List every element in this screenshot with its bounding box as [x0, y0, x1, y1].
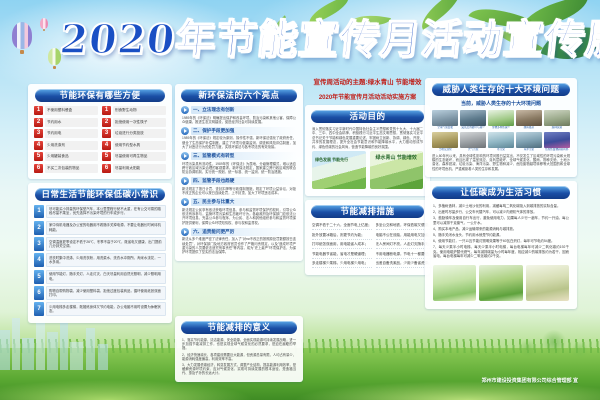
tip-number: 1: [34, 205, 44, 219]
problem-label: 生物多样性减少: [488, 126, 514, 130]
tip-item: 3空调温度夏季设定不低于26℃、冬季不高于20℃，既省电又健康，出门提前几分钟关…: [34, 237, 166, 251]
measures-two-column-list: 空调不低于二十六，全面节电上亿度； 拒外放置冰箱后，则更节约为能； 打印纸张双面…: [309, 222, 426, 271]
measure-item: 打印纸张双面用，用电能省人成本；: [312, 242, 372, 249]
chevron-right-icon: [181, 152, 189, 160]
subsection-heading-row: 一、立法理念有创新: [181, 106, 297, 114]
measure-item: 多坐公交和地铁，环保低碳又便捷；: [376, 223, 432, 230]
tip-text: 尽可能买小排量的环保型汽车，本公里里程行驶不太重，在有公交可乘的路段尽量不乘坐，…: [46, 205, 166, 219]
habit-item: 2、出差时尽量步行、公交车代替汽车，可以减少内燃机气体的排放。: [433, 210, 569, 215]
poster-canvas: 2020年节能宣传月活动宣传展板 节能环保有哪些方便 1不使用塑料餐盒 2节约用…: [0, 0, 600, 400]
poster-title: 2020年节能宣传月活动宣传展板: [57, 14, 542, 66]
footer-credit: 郑州市建设投资集团有限公司综合管理部 宣: [482, 377, 578, 384]
significance-paragraph: 3、大力发展低碳经济，转变发展方式，调整产业结构，提高能源利用效率，是缓解资源环…: [182, 363, 296, 376]
item-label: 别食野生动物: [113, 106, 166, 115]
problem-cell: 水污染: [488, 132, 514, 152]
problem-label: 土地荒漠化: [432, 148, 458, 152]
item-label: 少用罐装食品: [45, 152, 98, 161]
measure-item: 空调不低于二十六，全面节电上亿度；: [312, 223, 372, 230]
significance-paragraph: 2、经济快速增长、各项建设需要巨大能源，但资源总量有限，人均占有量少，能源消耗强…: [182, 353, 296, 361]
problem-label: 森林锐减: [544, 126, 570, 130]
section-heading-environment-problems: 威胁人类生存的十大环境问题: [432, 83, 570, 96]
habit-item: 7、每天少乘半小时电梯，每天少乘半小时电梯，每台电梯每年可减少二氧化碳约192千…: [433, 245, 569, 259]
problem-label: 大气污染: [460, 148, 486, 152]
significance-paragraph: 1、落实节约能源、清洁能源、安全能源，全面实现能源可持续发展战略，进一步加强节能…: [182, 338, 296, 351]
column-four: 威胁人类生存的十大环境问题 当前，威胁人类生存的十大环境问题 全球气候变暖 臭氧…: [425, 78, 577, 313]
item-number: 6: [102, 164, 111, 173]
subsection-title: 二、保护手段更加强: [191, 127, 297, 135]
section-heading-significance: 节能减排的意义: [181, 321, 296, 334]
habits-illustration-row: [429, 264, 573, 305]
problem-image: [488, 110, 514, 126]
tip-text: 家中待机电器及办公室的电器用不着随手关掉电源，不要让电器长时间待机耗能。: [46, 221, 166, 235]
campaign-theme-text: 宣传周活动的主题:绿水青山 节能增效: [305, 76, 430, 86]
item-number: 6: [34, 164, 43, 173]
item-number: 2: [102, 118, 111, 127]
list-item: 6尽量利用太阳能: [102, 164, 166, 173]
list-item: 1别食野生动物: [102, 106, 166, 115]
habit-item: 5、随手关闭水龙头，节约用水就是节约能源。: [433, 233, 569, 238]
column-two: 新环保法的六个亮点 一、立法理念有创新 1989年的《环保法》明确提出保护和改善…: [175, 84, 303, 265]
subsection-body: 1989年的《环保法》明确提出保护和改善环境、防治污染和其他公害，保障公众健康，…: [182, 116, 296, 125]
problem-cell: 海洋污染: [516, 132, 542, 152]
problem-image: [488, 132, 514, 148]
item-number: 1: [34, 106, 43, 115]
item-label: 节约用水: [45, 118, 98, 127]
chevron-right-icon: [181, 228, 189, 236]
list-item: 4少用洗涤剂: [34, 141, 98, 150]
tip-text: 使用节能灯，随手关灯，人走灯灭，白天尽量利用自然光照明，减少照明用电。: [46, 270, 166, 284]
subsection-heading-row: 五、民主参与比重大: [181, 198, 297, 206]
measures-left-column: 空调不低于二十六，全面节电上亿度； 拒外放置冰箱后，则更节约为能； 打印纸张双面…: [312, 223, 372, 268]
numbered-list-right: 1别食野生动物 2拒绝使用一次性筷子 3垃圾进行分类投放 4使用节约型水具 5尽…: [102, 106, 166, 173]
list-item: 2拒绝使用一次性筷子: [102, 118, 166, 127]
item-label: 尽量利用太阳能: [113, 164, 166, 173]
promo-photo-caption: 绿色发展 节能先行: [315, 157, 363, 162]
habits-list: 1、多植树造林，减少土地沙化的利用，减缓每吨二氧化碳吸入到碳排放的实际含量。 2…: [429, 203, 573, 263]
list-item: 3垃圾进行分类投放: [102, 129, 166, 138]
section-heading-energy-saving-ways: 节能环保有哪些方便: [35, 89, 166, 102]
item-number: 4: [102, 141, 111, 150]
tip-item: 2家中待机电器及办公室的电器用不着随手关掉电源，不要让电器长时间待机耗能。: [34, 221, 166, 235]
panel-reduction-measures: 节能减排措施 空调不低于二十六，全面节电上亿度； 拒外放置冰箱后，则更节约为能；…: [305, 200, 430, 275]
subsection-title: 五、民主参与比重大: [191, 198, 297, 206]
problem-image: [544, 110, 570, 126]
item-number: 4: [34, 141, 43, 150]
problem-cell: 森林锐减: [544, 110, 570, 130]
panel-energy-saving-ways: 节能环保有哪些方便 1不使用塑料餐盒 2节约用水 3节约用电 4少用洗涤剂 5少…: [28, 84, 172, 179]
chevron-right-icon: [181, 127, 189, 135]
item-label: 使用节约型水具: [113, 141, 166, 150]
tip-number: 6: [34, 286, 44, 300]
list-item: 5少用罐装食品: [34, 152, 98, 161]
subsection-body: 新法规定了按日计罚、查封扣押等行政强制措施，规定了环境公益诉讼，对拒不改正的企业…: [182, 187, 296, 196]
measure-item: 出差自备洗漱品，少用少备省资源；: [376, 261, 432, 268]
chevron-right-icon: [181, 177, 189, 185]
problem-cell: 臭氧层的破坏与减少: [460, 110, 486, 130]
problem-label: 水污染: [488, 148, 514, 152]
measure-item: 多走楼梯少乘梯，少用电梯少用电；: [312, 261, 372, 268]
subsection-heading-row: 六、追责能问更严厉: [181, 228, 297, 236]
section-heading-daily-tips: 日常生活节能环保低碳小常识: [35, 188, 166, 201]
list-item: 6不买二次包装的物品: [34, 164, 98, 173]
tip-number: 4: [34, 253, 44, 267]
panel-significance-wrapper: 节能减排的意义 1、落实节约能源、清洁能源、安全能源，全面实现能源可持续发展战略…: [175, 316, 303, 386]
list-item: 4使用节约型水具: [102, 141, 166, 150]
purpose-body: 深入贯彻落实习近平新时代中国特色社会主义思想和党的十九大、十九届二中、三中、四中…: [312, 127, 423, 149]
hot-air-balloon-icon: [12, 22, 32, 56]
subsection-title: 六、追责能问更严厉: [191, 228, 297, 236]
list-item: 5尽量使用可再生物品: [102, 152, 166, 161]
subsection-title: 四、监管手段也趋硬: [191, 177, 297, 185]
item-number: 2: [34, 118, 43, 127]
numbered-two-column-grid: 1不使用塑料餐盒 2节约用水 3节约用电 4少用洗涤剂 5少用罐装食品 6不买二…: [32, 106, 168, 175]
list-item: 1不使用塑料餐盒: [34, 106, 98, 115]
problem-label: 酸雨蔓延: [516, 126, 542, 130]
item-label: 垃圾进行分类投放: [113, 129, 166, 138]
habit-item: 3、鼓励骑车及使用自行车出行，避免使用电力，如果每人少行一趟车，节约一升油，每公…: [433, 216, 569, 225]
section-heading-new-law: 新环保法的六个亮点: [181, 89, 296, 102]
tip-item: 1尽可能买小排量的环保型汽车，本公里里程行驶不太重，在有公交可乘的路段尽量不乘坐…: [34, 205, 166, 219]
problem-label: 臭氧层的破坏与减少: [460, 126, 486, 130]
environment-problems-subtitle: 当前，威胁人类生存的十大环境问题: [429, 100, 573, 107]
tip-text: 空调温度夏季设定不低于26℃、冬季不高于20℃，既省电又健康，出门提前几分钟关空…: [46, 237, 166, 251]
habit-illustration-cycling: [479, 265, 522, 301]
tree-cluster-decoration: [510, 314, 600, 374]
problem-label: 危险性废物越境转移: [544, 148, 570, 152]
tip-text: 购物自带购物袋，减少使用塑料袋，拒绝过度包装商品，循环使用纸张双面打印。: [46, 286, 166, 300]
section-heading-measures: 节能减排措施: [311, 205, 423, 218]
item-label: 不使用塑料餐盒: [45, 106, 98, 115]
problem-label: 海洋污染: [516, 148, 542, 152]
item-label: 拒绝使用一次性筷子: [113, 118, 166, 127]
subsection-heading-row: 二、保护手段更加强: [181, 127, 297, 135]
problem-image: [432, 132, 458, 148]
purpose-photo-row: 绿色发展 节能先行 绿水青山 节能增效: [309, 151, 426, 192]
problem-cell: 危险性废物越境转移: [544, 132, 570, 152]
environment-problems-body: 进入80年代以来，具有全球性影响的环境问题日益突出，不仅发生了区域性的环境污染和…: [432, 154, 570, 172]
measure-item: 无人房间灯不亮，人走灯灭随手关；: [376, 242, 432, 249]
tip-number: 3: [34, 237, 44, 251]
problem-cell: 生物多样性减少: [488, 110, 514, 130]
tip-item: 5使用节能灯，随手关灯，人走灯灭，白天尽量利用自然光照明，减少照明用电。: [34, 270, 166, 284]
item-number: 5: [102, 152, 111, 161]
tip-item: 7少用电梯多走楼梯，既锻炼身体又节约电能，办公电脑不用时设置为休眠状态。: [34, 302, 166, 316]
implementation-plan-title: 2020年节能宣传月活动活动实施方案: [305, 92, 430, 101]
habit-item: 4、购买本地产品，减少运输带来的能源消耗与碳排放。: [433, 227, 569, 232]
section-heading-low-carbon-habits: 让低碳成为生活习惯: [432, 186, 570, 199]
panel-ten-environment-problems: 威胁人类生存的十大环境问题 当前，威胁人类生存的十大环境问题 全球气候变暖 臭氧…: [425, 78, 577, 177]
tip-number: 7: [34, 302, 44, 316]
environment-problem-image-grid: 全球气候变暖 臭氧层的破坏与减少 生物多样性减少 酸雨蔓延 森林锐减 土地荒漠化…: [429, 110, 573, 154]
tip-number: 2: [34, 221, 44, 235]
column-three: 宣传周活动的主题:绿水青山 节能增效 2020年节能宣传月活动活动实施方案 活动…: [305, 74, 430, 279]
measure-item: 电脑不公在设脑，用能用电又加省；: [376, 233, 432, 240]
panel-activity-purpose: 活动目的 深入贯彻落实习近平新时代中国特色社会主义思想和党的十九大、十九届二中、…: [305, 105, 430, 196]
problem-cell: 酸雨蔓延: [516, 110, 542, 130]
problem-image: [432, 110, 458, 126]
item-label: 节约用电: [45, 129, 98, 138]
list-item: 3节约用电: [34, 129, 98, 138]
promo-photo-caption: 绿水青山 节能增效: [370, 156, 424, 161]
measure-item: 不用电器断电源，节电十一都要记；: [376, 252, 432, 259]
problem-image: [516, 132, 542, 148]
subsection-heading-row: 四、监管手段也趋硬: [181, 177, 297, 185]
panel-new-environmental-law: 新环保法的六个亮点 一、立法理念有创新 1989年的《环保法》明确提出保护和改善…: [175, 84, 303, 261]
tip-number: 5: [34, 270, 44, 284]
subsection-body: 1989年的《环保法》规定较为原则、操作性不强，新环保法强化了政府责任，健全了生…: [182, 136, 296, 149]
item-number: 1: [102, 106, 111, 115]
column-one: 节能环保有哪些方便 1不使用塑料餐盒 2节约用水 3节约用电 4少用洗涤剂 5少…: [28, 84, 172, 327]
item-number: 3: [102, 129, 111, 138]
problem-image: [460, 110, 486, 126]
hot-air-balloon-icon: [40, 18, 48, 32]
habit-item: 6、使用节能灯，一只11瓦节能灯照明效果等于60瓦白炽灯，每年可节电约54度。: [433, 239, 569, 244]
numbered-list-left: 1不使用塑料餐盒 2节约用水 3节约用电 4少用洗涤剂 5少用罐装食品 6不买二…: [34, 106, 98, 173]
panel-daily-low-carbon-tips: 日常生活节能环保低碳小常识 1尽可能买小排量的环保型汽车，本公里里程行驶不太重，…: [28, 183, 172, 323]
habit-illustration-recycling: [526, 265, 569, 301]
chevron-right-icon: [181, 198, 189, 206]
tip-item: 6购物自带购物袋，减少使用塑料袋，拒绝过度包装商品，循环使用纸张双面打印。: [34, 286, 166, 300]
item-number: 5: [34, 152, 43, 161]
tip-item: 4洗衣时集中洗涤、少用洗衣粉，用洗菜水、洗衣水冲厕所，淘米水浇花，一水多用。: [34, 253, 166, 267]
problem-cell: 大气污染: [460, 132, 486, 152]
promo-photo: 绿水青山 节能增效: [370, 151, 424, 189]
subsection-title: 三、监管模式有转型: [191, 152, 297, 160]
habit-illustration-family-tree: [433, 265, 476, 301]
subsection-body: 新法规定公民享有依法获取环境信息、参与和监督环境保护的权利，引导公众依法有序参与…: [182, 208, 296, 226]
subsection-body: 环境污染具有流动性，1989年的《环保法》为属地、分级管理模式，难以适应跨行政区…: [182, 162, 296, 175]
chevron-right-icon: [181, 106, 189, 114]
section-heading-purpose: 活动目的: [311, 110, 423, 123]
subsection-heading-row: 三、监管模式有转型: [181, 152, 297, 160]
item-number: 3: [34, 129, 43, 138]
problem-image: [544, 132, 570, 148]
poster-title-container: 2020年节能宣传月活动宣传展板: [60, 14, 540, 66]
list-item: 2节约用水: [34, 118, 98, 127]
tip-text: 少用电梯多走楼梯，既锻炼身体又节约电能，办公电脑不用时设置为休眠状态。: [46, 302, 166, 316]
subsection-title: 一、立法理念有创新: [191, 106, 297, 114]
item-label: 尽量使用可再生物品: [113, 152, 166, 161]
subsection-body: 新法从多个维度严密了法律责任，加入了"对ни不改正的按照原处罚数额按日连续处罚"…: [182, 237, 296, 255]
problem-image: [460, 132, 486, 148]
problem-label: 全球气候变暖: [432, 126, 458, 130]
measures-right-column: 多坐公交和地铁，环保低碳又便捷； 电脑不公在设脑，用能用电又加省； 无人房间灯不…: [376, 223, 432, 268]
panel-significance: 节能减排的意义 1、落实节约能源、清洁能源、安全能源，全面实现能源可持续发展战略…: [175, 316, 303, 382]
promo-photo: 绿色发展 节能先行: [312, 151, 366, 189]
measure-item: 节能电器节省能，省电才是硬道理；: [312, 252, 372, 259]
item-label: 少用洗涤剂: [45, 141, 98, 150]
item-label: 不买二次包装的物品: [45, 164, 98, 173]
panel-low-carbon-habits: 让低碳成为生活习惯 1、多植树造林，减少土地沙化的利用，减缓每吨二氧化碳吸入到碳…: [425, 181, 577, 308]
tip-text: 洗衣时集中洗涤、少用洗衣粉，用洗菜水、洗衣水冲厕所，淘米水浇花，一水多用。: [46, 253, 166, 267]
measure-item: 拒外放置冰箱后，则更节约为能；: [312, 233, 372, 240]
problem-cell: 土地荒漠化: [432, 132, 458, 152]
problem-cell: 全球气候变暖: [432, 110, 458, 130]
habit-item: 1、多植树造林，减少土地沙化的利用，减缓每吨二氧化碳吸入到碳排放的实际含量。: [433, 204, 569, 209]
problem-image: [516, 110, 542, 126]
